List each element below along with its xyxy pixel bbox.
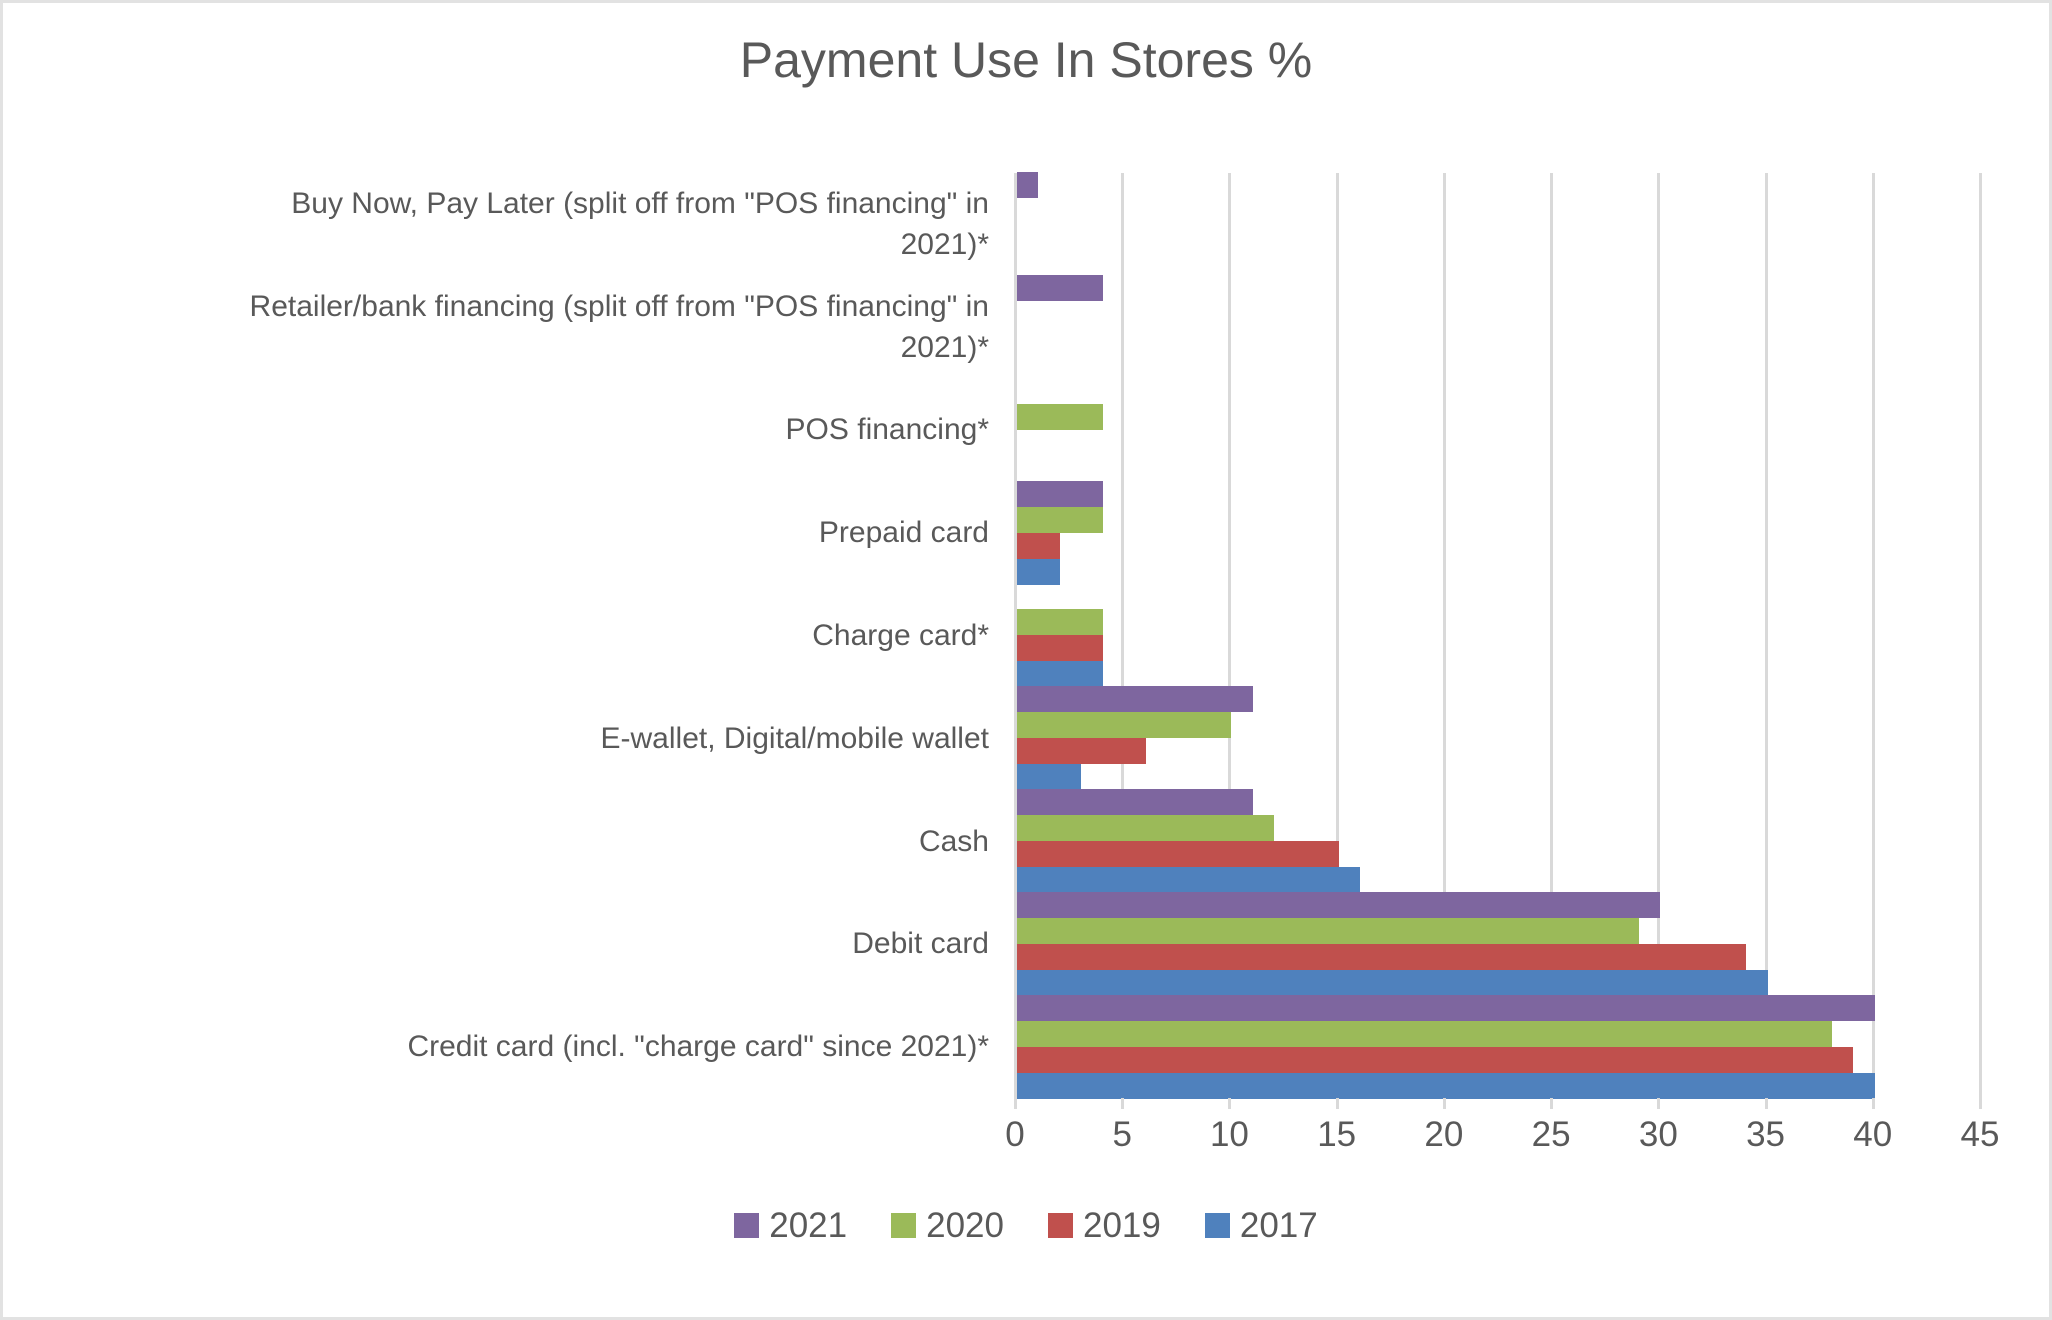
x-tick-mark [1336,1098,1339,1109]
bar-2017 [1017,867,1360,893]
bar-group [1014,379,1979,482]
legend-swatch-icon [734,1213,759,1238]
legend-item-2017[interactable]: 2017 [1205,1208,1318,1243]
bar-2020 [1017,712,1231,738]
bar-2020 [1017,918,1639,944]
x-tick-mark [1765,1098,1768,1109]
legend-swatch-icon [1048,1213,1073,1238]
x-tick-label: 30 [1618,1115,1698,1155]
bar-2017 [1017,764,1081,790]
x-tick-label: 45 [1940,1115,2020,1155]
bar-2021 [1017,995,1875,1021]
bar-2020 [1017,815,1274,841]
bar-2021 [1017,686,1253,712]
bar-group [1014,790,1979,893]
category-label: Retailer/bank financing (split off from … [249,286,989,368]
x-tick-mark [1872,1098,1875,1109]
category-label: Buy Now, Pay Later (split off from "POS … [249,183,989,265]
category-label: E-wallet, Digital/mobile wallet [249,718,989,759]
x-tick-mark [1550,1098,1553,1109]
bar-group [1014,276,1979,379]
bar-group [1014,995,1979,1098]
x-tick-mark [1979,1098,1982,1109]
legend-label: 2021 [769,1208,847,1243]
bar-2017 [1017,1073,1875,1099]
x-tick-label: 35 [1726,1115,1806,1155]
category-label: Debit card [249,923,989,964]
bar-2020 [1017,404,1103,430]
x-tick-mark [1443,1098,1446,1109]
category-label: POS financing* [249,409,989,450]
bar-2019 [1017,944,1746,970]
legend-label: 2020 [926,1208,1004,1243]
category-label: Prepaid card [249,512,989,553]
bar-2019 [1017,533,1060,559]
bar-group [1014,173,1979,276]
bar-2021 [1017,275,1103,301]
x-tick-label: 0 [975,1115,1055,1155]
category-label: Cash [249,821,989,862]
bar-group [1014,481,1979,584]
plot-area [1014,173,1979,1098]
legend-item-2020[interactable]: 2020 [891,1208,1004,1243]
x-tick-label: 20 [1404,1115,1484,1155]
x-tick-mark [1228,1098,1231,1109]
chart-legend: 2021202020192017 [3,1208,2049,1243]
bar-2021 [1017,172,1038,198]
gridline [1979,173,1982,1098]
bar-2019 [1017,738,1146,764]
bar-2021 [1017,892,1660,918]
legend-label: 2019 [1083,1208,1161,1243]
x-tick-mark [1014,1098,1017,1109]
bar-2020 [1017,609,1103,635]
bar-2021 [1017,789,1253,815]
bar-group [1014,687,1979,790]
bar-2020 [1017,1021,1832,1047]
x-tick-mark [1657,1098,1660,1109]
x-tick-label: 15 [1297,1115,1377,1155]
legend-item-2019[interactable]: 2019 [1048,1208,1161,1243]
x-tick-label: 40 [1833,1115,1913,1155]
x-tick-label: 25 [1511,1115,1591,1155]
x-tick-label: 10 [1189,1115,1269,1155]
bar-2019 [1017,1047,1853,1073]
legend-swatch-icon [891,1213,916,1238]
bar-2020 [1017,507,1103,533]
chart-title: Payment Use In Stores % [3,31,2049,89]
bar-2017 [1017,559,1060,585]
chart-container: Payment Use In Stores % Buy Now, Pay Lat… [0,0,2052,1320]
legend-item-2021[interactable]: 2021 [734,1208,847,1243]
category-label: Charge card* [249,615,989,656]
bar-2017 [1017,661,1103,687]
category-label: Credit card (incl. "charge card" since 2… [249,1026,989,1067]
legend-label: 2017 [1240,1208,1318,1243]
bar-group [1014,892,1979,995]
bar-2021 [1017,481,1103,507]
bar-2019 [1017,635,1103,661]
legend-swatch-icon [1205,1213,1230,1238]
x-tick-label: 5 [1082,1115,1162,1155]
bar-2019 [1017,841,1339,867]
bar-2017 [1017,970,1768,996]
x-tick-mark [1121,1098,1124,1109]
bar-group [1014,584,1979,687]
